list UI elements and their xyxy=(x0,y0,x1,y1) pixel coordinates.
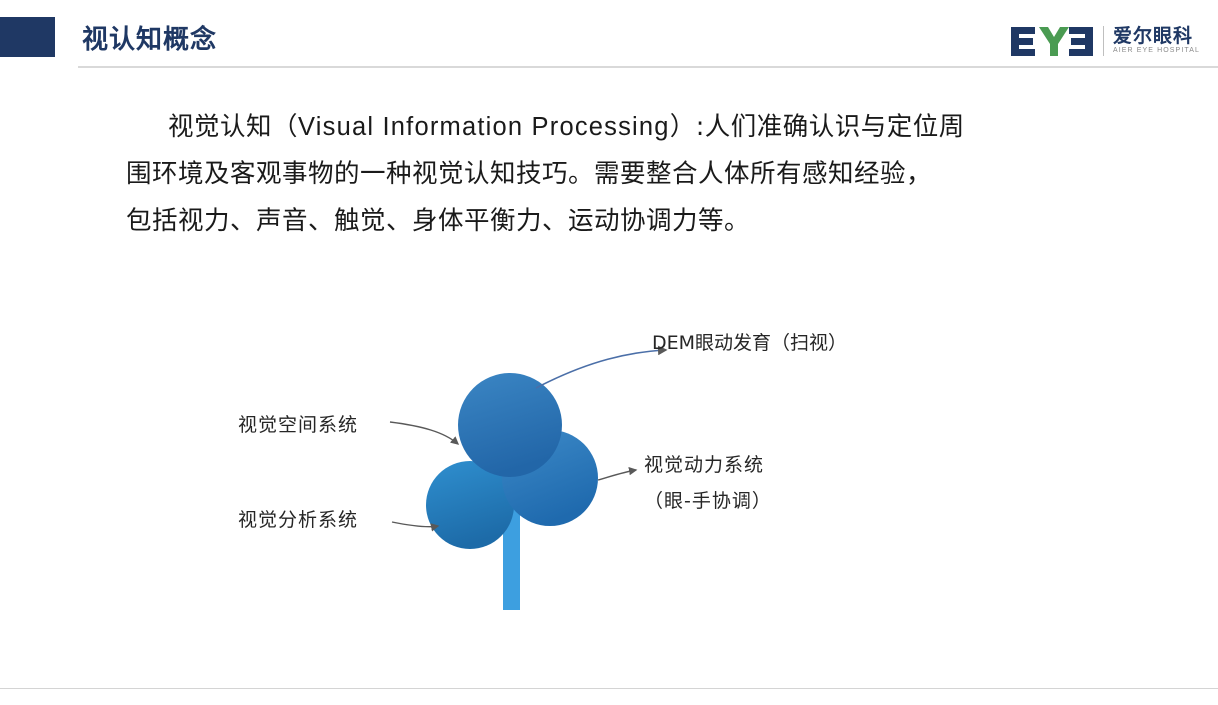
slide-header: 视认知概念 爱尔眼科 AIER EYE HOSPITAL xyxy=(0,0,1218,74)
paragraph-line1-pre: 视觉认知（ xyxy=(168,112,298,142)
logo-name-cn: 爱尔眼科 xyxy=(1113,26,1200,46)
label-visual-dynamic: 视觉动力系统 xyxy=(644,450,764,477)
header-accent-square xyxy=(0,17,55,57)
canopy-top xyxy=(458,373,562,477)
logo-text: 爱尔眼科 AIER EYE HOSPITAL xyxy=(1113,26,1200,56)
label-visual-dynamic-sub: （眼-手协调） xyxy=(644,486,772,513)
dem-connector-arrow xyxy=(536,350,666,388)
footer-band xyxy=(0,689,1218,705)
label-visual-space: 视觉空间系统 xyxy=(238,410,358,437)
brand-logo: 爱尔眼科 AIER EYE HOSPITAL xyxy=(1009,20,1200,62)
header-divider xyxy=(78,66,1218,68)
label-dem: DEM眼动发育（扫视） xyxy=(652,328,847,355)
paragraph-line1-post: ）:人们准确认识与定位周 xyxy=(670,112,965,142)
paragraph-line-2: 围环境及客观事物的一种视觉认知技巧。需要整合人体所有感知经验， xyxy=(126,151,1086,198)
label-visual-analysis: 视觉分析系统 xyxy=(238,505,358,532)
paragraph-line1-latin: Visual Information Processing xyxy=(298,113,670,141)
visual-cognition-tree-diagram: DEM眼动发育（扫视） 视觉空间系统 视觉分析系统 视觉动力系统 （眼-手协调） xyxy=(200,300,1020,630)
logo-divider xyxy=(1103,26,1104,56)
visual-dynamic-arrow xyxy=(598,470,636,480)
slide: 视认知概念 爱尔眼科 AIER EYE HOSPITAL xyxy=(0,0,1218,705)
tree-graphic xyxy=(200,300,1020,630)
page-title: 视认知概念 xyxy=(82,19,217,56)
logo-name-en: AIER EYE HOSPITAL xyxy=(1113,46,1200,56)
eye-wordmark-icon xyxy=(1009,24,1095,58)
paragraph-line-3: 包括视力、声音、触觉、身体平衡力、运动协调力等。 xyxy=(126,198,1086,245)
body-paragraph: 视觉认知（Visual Information Processing）:人们准确… xyxy=(126,104,1086,245)
paragraph-line-1: 视觉认知（Visual Information Processing）:人们准确… xyxy=(126,104,1086,151)
visual-space-arrow xyxy=(390,422,458,444)
